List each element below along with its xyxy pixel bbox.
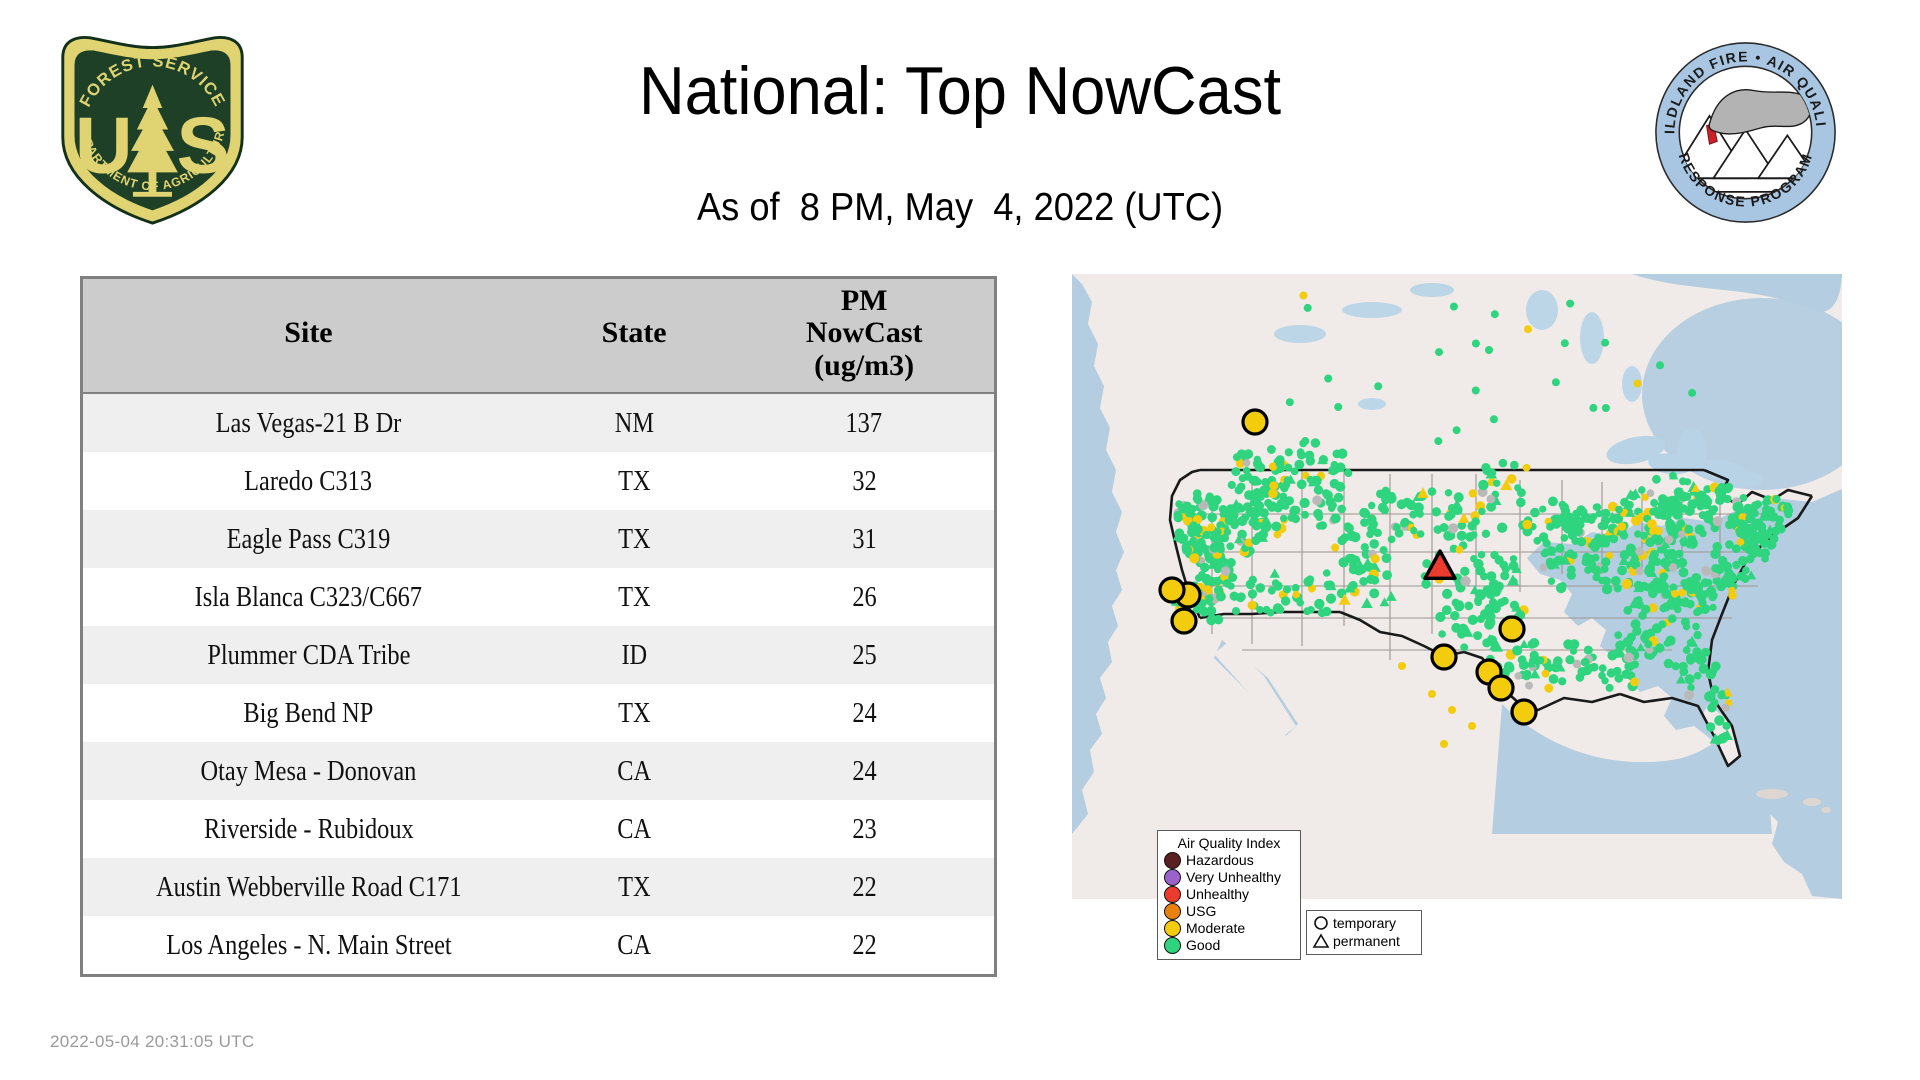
station-marker-temporary	[1231, 467, 1240, 476]
station-marker-temporary	[1536, 656, 1544, 664]
station-type-legend: temporary permanent	[1306, 910, 1422, 955]
station-marker-temporary	[1497, 599, 1505, 607]
column-header-state: State	[534, 279, 734, 393]
station-marker-temporary	[1666, 526, 1675, 535]
station-marker-temporary	[1444, 512, 1453, 521]
column-header-site: Site	[83, 279, 534, 393]
station-marker-temporary	[1668, 614, 1677, 623]
station-marker-temporary	[1611, 576, 1621, 586]
station-marker-temporary	[1692, 623, 1700, 631]
station-marker-temporary	[1401, 518, 1410, 527]
station-marker-temporary	[1770, 534, 1779, 543]
station-marker-temporary	[1248, 601, 1257, 610]
station-marker-temporary	[1312, 495, 1322, 505]
aqi-legend-label: USG	[1186, 904, 1216, 919]
station-marker-temporary	[1331, 544, 1339, 552]
caribbean-island-0	[1756, 789, 1788, 799]
station-marker-temporary	[1334, 403, 1342, 411]
station-marker-temporary	[1448, 504, 1456, 512]
station-marker-temporary	[1267, 445, 1276, 454]
station-marker-temporary	[1285, 496, 1294, 505]
cell-value: 24	[734, 684, 994, 742]
station-marker-temporary	[1255, 464, 1262, 471]
station-marker-temporary	[1679, 568, 1689, 578]
cell-site: Eagle Pass C319	[83, 510, 534, 568]
station-marker-temporary	[1701, 566, 1711, 576]
station-marker-temporary	[1254, 522, 1262, 530]
top-site-marker-temporary[interactable]	[1500, 617, 1524, 641]
canada-lake-0	[1274, 325, 1326, 343]
station-marker-temporary	[1227, 558, 1236, 567]
station-marker-temporary	[1596, 510, 1603, 517]
station-marker-temporary	[1721, 704, 1729, 712]
station-marker-temporary	[1686, 653, 1696, 663]
cell-value: 22	[734, 916, 994, 974]
cell-value: 32	[734, 452, 994, 510]
cell-site: Los Angeles - N. Main Street	[83, 916, 534, 974]
station-marker-temporary	[1559, 501, 1567, 509]
station-marker-temporary	[1331, 461, 1339, 469]
station-marker-temporary	[1718, 493, 1726, 501]
station-marker-temporary	[1478, 508, 1485, 515]
canada-lake-2	[1410, 283, 1454, 297]
station-marker-temporary	[1448, 706, 1456, 714]
pm-header-line-1: PM	[734, 285, 994, 317]
station-marker-temporary	[1699, 664, 1709, 674]
caribbean-island-2	[1821, 807, 1831, 813]
aqi-swatch-icon	[1164, 937, 1181, 954]
station-marker-temporary	[1658, 494, 1668, 504]
station-marker-temporary	[1710, 604, 1717, 611]
station-marker-temporary	[1482, 530, 1490, 538]
table-row: Otay Mesa - DonovanCA24	[83, 742, 994, 800]
station-marker-temporary	[1237, 595, 1244, 602]
station-marker-temporary	[1460, 643, 1468, 651]
cell-value: 23	[734, 800, 994, 858]
station-marker-temporary	[1269, 481, 1278, 490]
station-marker-temporary	[1453, 426, 1461, 434]
table-header-row: Site State PM NowCast (ug/m3)	[83, 279, 994, 393]
table-row: Laredo C313TX32	[83, 452, 994, 510]
aqi-legend-row: USG	[1164, 903, 1294, 920]
station-marker-temporary	[1683, 646, 1691, 654]
canada-lake-3	[1526, 290, 1558, 330]
station-marker-temporary	[1216, 558, 1226, 568]
cell-state: CA	[534, 800, 734, 858]
station-marker-temporary	[1243, 467, 1251, 475]
aqi-swatch-icon	[1164, 903, 1181, 920]
aqi-legend-row: Good	[1164, 937, 1294, 954]
table-row: Riverside - RubidouxCA23	[83, 800, 994, 858]
station-marker-temporary	[1300, 498, 1310, 508]
station-marker-temporary	[1243, 459, 1251, 467]
cell-state-text: TX	[618, 581, 650, 614]
station-marker-temporary	[1693, 631, 1701, 639]
station-marker-temporary	[1602, 584, 1612, 594]
station-marker-temporary	[1553, 656, 1563, 666]
station-marker-temporary	[1268, 489, 1278, 499]
station-marker-temporary	[1630, 677, 1639, 686]
station-marker-temporary	[1745, 524, 1753, 532]
top-site-marker-temporary[interactable]	[1172, 609, 1196, 633]
station-marker-temporary	[1314, 486, 1322, 494]
station-marker-temporary	[1578, 508, 1587, 517]
station-marker-temporary	[1487, 495, 1496, 504]
station-marker-temporary	[1696, 657, 1704, 665]
station-marker-temporary	[1566, 549, 1575, 558]
station-marker-temporary	[1472, 340, 1480, 348]
station-marker-temporary	[1368, 502, 1375, 509]
station-marker-temporary	[1669, 551, 1678, 560]
station-marker-temporary	[1602, 404, 1610, 412]
station-marker-temporary	[1416, 510, 1424, 518]
station-marker-temporary	[1442, 589, 1452, 599]
top-site-marker-temporary[interactable]	[1243, 410, 1267, 434]
station-marker-temporary	[1409, 511, 1417, 519]
station-marker-temporary	[1601, 516, 1610, 525]
station-marker-temporary	[1614, 674, 1623, 683]
aqi-legend-label: Moderate	[1186, 921, 1245, 936]
station-marker-temporary	[1622, 579, 1632, 589]
station-marker-temporary	[1299, 292, 1307, 300]
station-marker-temporary	[1248, 589, 1257, 598]
station-marker-temporary	[1380, 546, 1388, 554]
station-marker-temporary	[1588, 517, 1595, 524]
station-marker-temporary	[1614, 631, 1622, 639]
station-marker-temporary	[1623, 637, 1633, 647]
cell-state-text: TX	[618, 523, 650, 556]
cell-site-text: Riverside - Rubidoux	[204, 813, 414, 846]
station-marker-temporary	[1647, 519, 1657, 529]
station-marker-temporary	[1674, 487, 1684, 497]
station-marker-temporary	[1256, 606, 1264, 614]
station-marker-temporary	[1286, 398, 1294, 406]
station-marker-temporary	[1682, 582, 1691, 591]
station-marker-temporary	[1515, 672, 1523, 680]
cell-site-text: Plummer CDA Tribe	[207, 639, 410, 672]
cell-value: 26	[734, 568, 994, 626]
legend-label-permanent: permanent	[1333, 933, 1400, 949]
station-marker-temporary	[1368, 519, 1378, 529]
station-marker-temporary	[1548, 578, 1555, 585]
cell-value-text: 24	[852, 697, 876, 730]
station-marker-temporary	[1292, 584, 1300, 592]
station-marker-temporary	[1718, 556, 1727, 565]
table-row: Plummer CDA TribeID25	[83, 626, 994, 684]
station-marker-temporary	[1592, 573, 1600, 581]
station-marker-temporary	[1684, 478, 1691, 485]
station-marker-temporary	[1277, 462, 1284, 469]
station-marker-temporary	[1761, 555, 1769, 563]
station-marker-temporary	[1684, 539, 1691, 546]
circle-outline-icon	[1312, 915, 1330, 931]
station-marker-temporary	[1182, 544, 1191, 553]
station-marker-temporary	[1678, 531, 1685, 538]
station-marker-temporary	[1737, 519, 1745, 527]
aqi-legend-row: Moderate	[1164, 920, 1294, 937]
table-row: Los Angeles - N. Main StreetCA22	[83, 916, 994, 974]
station-marker-temporary	[1284, 464, 1292, 472]
station-marker-temporary	[1292, 506, 1301, 515]
canada-lake-4	[1580, 312, 1604, 364]
station-marker-temporary	[1717, 691, 1725, 699]
station-marker-temporary	[1566, 300, 1574, 308]
cell-site-text: Austin Webberville Road C171	[156, 871, 461, 904]
station-marker-temporary	[1671, 590, 1679, 598]
cell-value: 25	[734, 626, 994, 684]
station-marker-temporary	[1361, 509, 1370, 518]
station-marker-temporary	[1323, 490, 1333, 500]
station-marker-temporary	[1703, 648, 1711, 656]
station-marker-temporary	[1280, 515, 1287, 522]
station-marker-temporary	[1473, 631, 1482, 640]
cell-site-text: Laredo C313	[245, 465, 373, 498]
station-marker-temporary	[1207, 512, 1217, 522]
station-marker-temporary	[1284, 476, 1292, 484]
station-marker-temporary	[1522, 672, 1530, 680]
station-marker-temporary	[1350, 532, 1360, 542]
station-marker-temporary	[1210, 543, 1220, 553]
station-marker-temporary	[1476, 590, 1486, 600]
station-marker-temporary	[1634, 530, 1641, 537]
aqi-swatch-icon	[1164, 869, 1181, 886]
station-marker-temporary	[1361, 543, 1369, 551]
station-marker-temporary	[1374, 382, 1382, 390]
station-marker-temporary	[1316, 522, 1323, 529]
station-marker-temporary	[1468, 722, 1476, 730]
cell-site: Otay Mesa - Donovan	[83, 742, 534, 800]
station-marker-temporary	[1445, 489, 1452, 496]
station-marker-temporary	[1190, 537, 1197, 544]
cell-site: Riverside - Rubidoux	[83, 800, 534, 858]
station-marker-temporary	[1679, 667, 1688, 676]
station-marker-temporary	[1490, 415, 1498, 423]
aqi-legend-label: Unhealthy	[1186, 887, 1249, 902]
cell-state-text: CA	[617, 755, 651, 788]
station-marker-temporary	[1478, 551, 1486, 559]
station-marker-temporary	[1665, 535, 1674, 544]
cell-state-text: TX	[618, 465, 650, 498]
station-marker-temporary	[1644, 583, 1652, 591]
station-marker-temporary	[1331, 513, 1341, 523]
station-marker-temporary	[1738, 556, 1748, 566]
station-marker-temporary	[1454, 492, 1464, 502]
station-marker-temporary	[1707, 703, 1716, 712]
top-site-marker-temporary[interactable]	[1160, 578, 1184, 602]
station-marker-temporary	[1256, 583, 1266, 593]
station-marker-temporary	[1374, 529, 1382, 537]
cell-value-text: 137	[846, 407, 883, 440]
aqi-swatch-icon	[1164, 886, 1181, 903]
station-marker-temporary	[1539, 532, 1548, 541]
triangle-outline-icon	[1312, 933, 1330, 949]
station-marker-temporary	[1516, 498, 1526, 508]
cell-value: 24	[734, 742, 994, 800]
station-marker-temporary	[1174, 513, 1183, 522]
station-marker-temporary	[1421, 579, 1431, 589]
cell-site-text: Otay Mesa - Donovan	[201, 755, 417, 788]
station-marker-temporary	[1694, 672, 1702, 680]
station-marker-temporary	[1630, 556, 1638, 564]
station-marker-temporary	[1546, 558, 1555, 567]
cell-value-text: 26	[852, 581, 876, 614]
station-marker-temporary	[1360, 518, 1369, 527]
station-marker-temporary	[1638, 486, 1646, 494]
cell-value-text: 22	[852, 929, 876, 962]
station-marker-temporary	[1267, 501, 1277, 511]
station-marker-temporary	[1594, 534, 1601, 541]
table-row: Isla Blanca C323/C667TX26	[83, 568, 994, 626]
station-marker-temporary	[1237, 516, 1247, 526]
station-marker-temporary	[1406, 500, 1416, 510]
station-marker-temporary	[1644, 640, 1652, 648]
station-marker-temporary	[1347, 554, 1357, 564]
station-marker-temporary	[1746, 546, 1755, 555]
station-marker-temporary	[1438, 630, 1446, 638]
station-marker-temporary	[1583, 666, 1592, 675]
station-marker-temporary	[1252, 477, 1261, 486]
cell-value-text: 22	[852, 871, 876, 904]
station-marker-temporary	[1301, 437, 1309, 445]
station-marker-temporary	[1581, 658, 1590, 667]
aqi-legend-label: Good	[1186, 938, 1220, 953]
legend-row-permanent: permanent	[1312, 932, 1416, 950]
station-marker-temporary	[1472, 387, 1480, 395]
page-subtitle: As of 8 PM, May 4, 2022 (UTC)	[67, 186, 1853, 230]
station-marker-temporary	[1209, 577, 1218, 586]
generation-timestamp: 2022-05-04 20:31:05 UTC	[50, 1032, 254, 1052]
cell-site-text: Big Bend NP	[244, 697, 374, 730]
station-marker-temporary	[1205, 595, 1213, 603]
station-marker-temporary	[1189, 553, 1199, 563]
station-marker-temporary	[1285, 448, 1293, 456]
cell-state: TX	[534, 510, 734, 568]
station-marker-temporary	[1713, 516, 1723, 526]
station-marker-temporary	[1305, 451, 1314, 460]
station-marker-temporary	[1598, 672, 1606, 680]
station-marker-temporary	[1207, 523, 1215, 531]
station-marker-temporary	[1544, 684, 1553, 693]
cell-site-text: Las Vegas-21 B Dr	[216, 407, 402, 440]
wfaqrp-logo: WILDLAND FIRE • AIR QUALITY RESPONSE PRO…	[1653, 40, 1838, 225]
station-marker-temporary	[1337, 505, 1346, 514]
aqi-legend-title: Air Quality Index	[1164, 835, 1294, 851]
station-marker-temporary	[1397, 499, 1407, 509]
station-marker-temporary	[1263, 606, 1271, 614]
aqi-swatch-icon	[1164, 920, 1181, 937]
station-marker-temporary	[1200, 563, 1209, 572]
station-marker-temporary	[1216, 592, 1226, 602]
station-marker-temporary	[1783, 502, 1792, 511]
cell-state: CA	[534, 742, 734, 800]
station-marker-temporary	[1700, 604, 1710, 614]
top-site-marker-temporary[interactable]	[1432, 645, 1456, 669]
station-marker-temporary	[1653, 535, 1663, 545]
station-marker-temporary	[1672, 662, 1680, 670]
station-marker-temporary	[1512, 645, 1522, 655]
station-marker-temporary	[1607, 651, 1617, 661]
top-site-marker-temporary[interactable]	[1489, 676, 1513, 700]
station-marker-temporary	[1323, 569, 1331, 577]
cell-value: 31	[734, 510, 994, 568]
station-marker-temporary	[1206, 607, 1216, 617]
station-marker-temporary	[1725, 540, 1734, 549]
cell-site: Laredo C313	[83, 452, 534, 510]
station-marker-temporary	[1303, 607, 1311, 615]
station-marker-temporary	[1465, 532, 1475, 542]
station-marker-temporary	[1584, 646, 1593, 655]
station-marker-temporary	[1648, 560, 1656, 568]
station-marker-temporary	[1271, 522, 1281, 532]
station-marker-temporary	[1647, 489, 1655, 497]
station-marker-temporary	[1561, 339, 1569, 347]
station-marker-temporary	[1525, 682, 1533, 690]
station-marker-temporary	[1635, 567, 1643, 575]
station-marker-temporary	[1324, 581, 1332, 589]
canada-lake-1	[1342, 302, 1402, 318]
table-row: Las Vegas-21 B DrNM137	[83, 393, 994, 452]
station-marker-temporary	[1382, 570, 1392, 580]
station-marker-temporary	[1183, 505, 1192, 514]
station-marker-temporary	[1472, 517, 1480, 525]
station-marker-temporary	[1417, 530, 1424, 537]
station-marker-temporary	[1529, 638, 1539, 648]
station-marker-temporary	[1606, 684, 1614, 692]
station-marker-temporary	[1314, 599, 1324, 609]
station-marker-temporary	[1469, 489, 1477, 497]
station-marker-temporary	[1251, 536, 1260, 545]
station-marker-temporary	[1499, 561, 1508, 570]
station-marker-temporary	[1311, 438, 1320, 447]
cell-site-text: Isla Blanca C323/C667	[195, 581, 422, 614]
station-marker-temporary	[1609, 515, 1618, 524]
top-site-marker-temporary[interactable]	[1512, 700, 1536, 724]
station-marker-temporary	[1258, 530, 1268, 540]
station-marker-temporary	[1468, 615, 1478, 625]
station-marker-temporary	[1428, 690, 1436, 698]
station-marker-temporary	[1272, 579, 1280, 587]
station-marker-temporary	[1705, 579, 1713, 587]
cell-value-text: 24	[852, 755, 876, 788]
station-marker-temporary	[1615, 506, 1623, 514]
station-marker-temporary	[1335, 482, 1345, 492]
cell-state-text: CA	[617, 929, 651, 962]
station-marker-temporary	[1624, 652, 1634, 662]
station-marker-temporary	[1485, 604, 1495, 614]
station-marker-temporary	[1652, 475, 1661, 484]
cell-state-text: NM	[615, 407, 654, 440]
station-marker-temporary	[1194, 496, 1202, 504]
station-marker-temporary	[1617, 566, 1627, 576]
station-marker-temporary	[1769, 512, 1779, 522]
station-marker-temporary	[1658, 620, 1666, 628]
station-marker-temporary	[1594, 503, 1602, 511]
station-marker-temporary	[1631, 661, 1639, 669]
cell-state: TX	[534, 568, 734, 626]
station-marker-temporary	[1632, 622, 1639, 629]
station-marker-temporary	[1329, 501, 1337, 509]
station-marker-temporary	[1574, 527, 1583, 536]
station-marker-temporary	[1276, 606, 1284, 614]
station-marker-temporary	[1681, 617, 1690, 626]
station-marker-temporary	[1448, 523, 1458, 533]
national-aqi-map[interactable]	[1072, 274, 1842, 899]
station-marker-temporary	[1224, 528, 1231, 535]
table-row: Austin Webberville Road C171TX22	[83, 858, 994, 916]
station-marker-temporary	[1428, 487, 1437, 496]
station-marker-temporary	[1688, 389, 1696, 397]
station-marker-temporary	[1454, 601, 1464, 611]
